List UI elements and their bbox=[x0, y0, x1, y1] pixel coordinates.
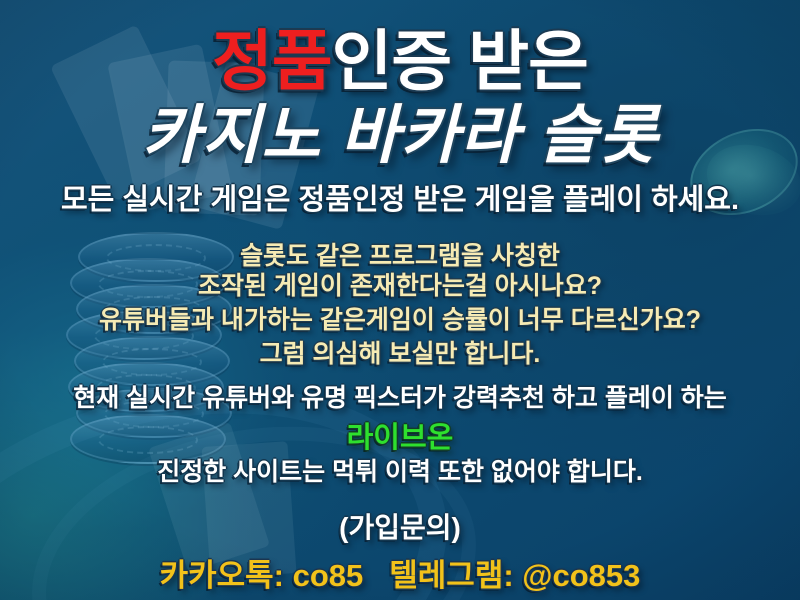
headline-line-2: 카지노 바카라 슬롯 bbox=[0, 84, 800, 176]
kakao-contact[interactable]: 카카오톡: co85 bbox=[160, 558, 364, 593]
paragraph-line-3: 유튜버들과 내가하는 같은게임이 승률이 너무 다르신가요? bbox=[0, 300, 800, 336]
paragraph-line-4: 그럼 의심해 보실만 합니다. bbox=[0, 334, 800, 370]
brand-name: 라이브온 bbox=[0, 414, 800, 456]
paragraph-line-2: 조작된 게임이 존재한다는걸 아시나요? bbox=[0, 266, 800, 302]
telegram-contact[interactable]: 텔레그램: @co853 bbox=[389, 558, 640, 593]
signup-label: (가입문의) bbox=[0, 506, 800, 546]
contact-row: 카카오톡: co85텔레그램: @co853 bbox=[0, 550, 800, 595]
callout-line-1: 현재 실시간 유튜버와 유명 픽스터가 강력추천 하고 플레이 하는 bbox=[0, 378, 800, 414]
banner-content: 정품인증 받은 카지노 바카라 슬롯 모든 실시간 게임은 정품인정 받은 게임… bbox=[0, 0, 800, 600]
promo-banner: 정품인증 받은 카지노 바카라 슬롯 모든 실시간 게임은 정품인정 받은 게임… bbox=[0, 0, 800, 600]
callout-line-3: 진정한 사이트는 먹튀 이력 또한 없어야 합니다. bbox=[0, 452, 800, 488]
subheadline: 모든 실시간 게임은 정품인정 받은 게임을 플레이 하세요. bbox=[0, 176, 800, 218]
